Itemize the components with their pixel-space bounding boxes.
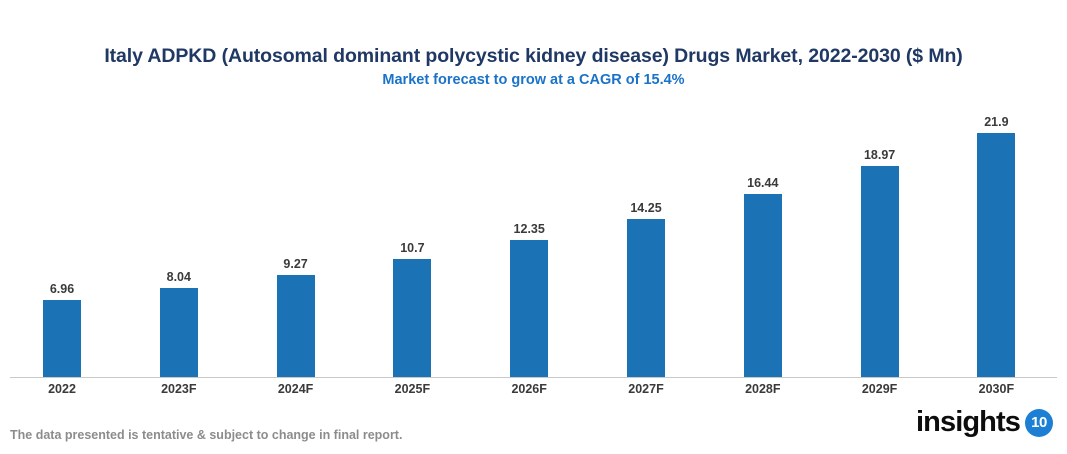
bar-group: 18.97 (822, 110, 938, 378)
x-axis-labels: 20222023F2024F2025F2026F2027F2028F2029F2… (10, 380, 1057, 402)
bar-value-label: 6.96 (50, 282, 74, 296)
x-axis-tick-label: 2028F (705, 382, 821, 396)
bar-value-label: 16.44 (747, 176, 778, 190)
x-axis-tick-label: 2025F (354, 382, 470, 396)
brand-wordmark: insights (916, 408, 1020, 437)
bar (861, 166, 899, 378)
bar-group: 12.35 (471, 110, 587, 378)
brand-badge-icon: 10 (1025, 409, 1053, 437)
bar (744, 194, 782, 378)
bar-group: 21.9 (938, 110, 1054, 378)
chart-subtitle: Market forecast to grow at a CAGR of 15.… (0, 72, 1067, 88)
bar-group: 16.44 (705, 110, 821, 378)
bar-group: 10.7 (354, 110, 470, 378)
x-axis-tick-label: 2022 (4, 382, 120, 396)
brand-logo: insights 10 (916, 408, 1053, 437)
bar-value-label: 14.25 (630, 201, 661, 215)
x-axis-tick-label: 2026F (471, 382, 587, 396)
bar (977, 133, 1015, 378)
bar-group: 8.04 (121, 110, 237, 378)
bar-value-label: 21.9 (984, 115, 1008, 129)
page-title: Italy ADPKD (Autosomal dominant polycyst… (0, 45, 1067, 68)
bar-group: 14.25 (588, 110, 704, 378)
chart-card: Italy ADPKD (Autosomal dominant polycyst… (0, 0, 1067, 454)
x-axis-tick-label: 2023F (121, 382, 237, 396)
x-axis-tick-label: 2027F (588, 382, 704, 396)
bar-value-label: 9.27 (283, 257, 307, 271)
plot-area: 6.968.049.2710.712.3514.2516.4418.9721.9 (10, 110, 1057, 378)
x-axis-tick-label: 2030F (938, 382, 1054, 396)
bar-value-label: 18.97 (864, 148, 895, 162)
bar (277, 275, 315, 379)
bar (393, 259, 431, 378)
disclaimer-text: The data presented is tentative & subjec… (10, 428, 402, 442)
bar-value-label: 12.35 (514, 222, 545, 236)
bar-value-label: 8.04 (167, 270, 191, 284)
x-axis-tick-label: 2029F (822, 382, 938, 396)
bar (43, 300, 81, 378)
x-axis-tick-label: 2024F (238, 382, 354, 396)
bar (627, 219, 665, 378)
bar-group: 9.27 (238, 110, 354, 378)
bar (510, 240, 548, 378)
bar-value-label: 10.7 (400, 241, 424, 255)
bar (160, 288, 198, 378)
x-axis-line (10, 377, 1057, 378)
bar-group: 6.96 (4, 110, 120, 378)
